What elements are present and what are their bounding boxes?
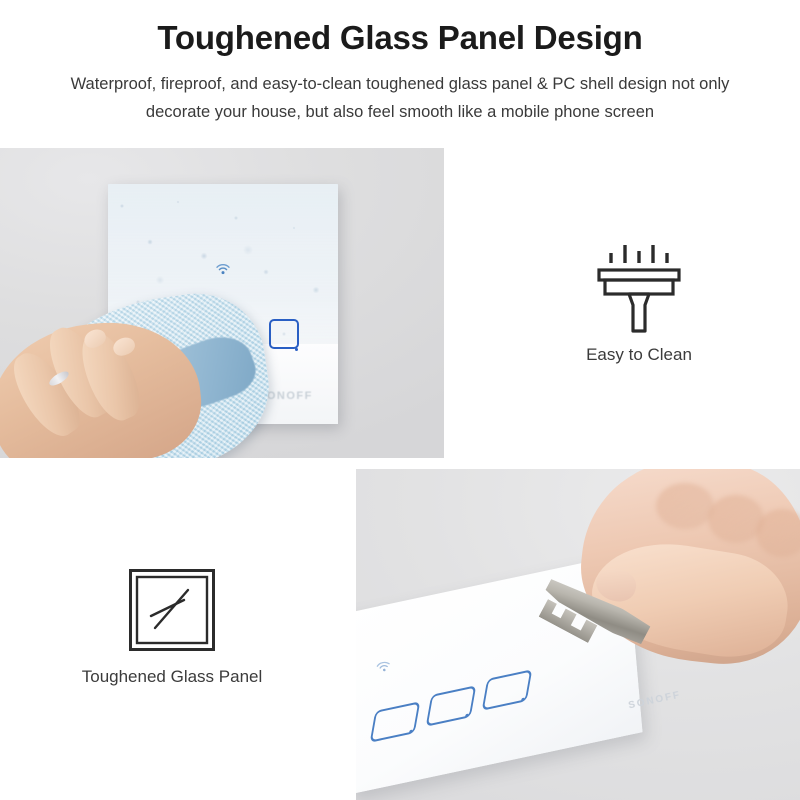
touch-button-led-3 xyxy=(521,698,524,702)
wifi-indicator-icon xyxy=(375,658,391,671)
subtitle-line-2: decorate your house, but also feel smoot… xyxy=(30,98,770,126)
page-subtitle: Waterproof, fireproof, and easy-to-clean… xyxy=(30,70,770,126)
feature-easy-to-clean: Easy to Clean xyxy=(539,240,739,366)
knuckle-3 xyxy=(756,509,800,557)
wifi-indicator-icon xyxy=(216,262,230,273)
product-feature-page: Toughened Glass Panel Design Waterproof,… xyxy=(0,0,800,800)
hand-wiping-wet-switch-photo: SONOFF xyxy=(0,148,444,458)
knuckle-1 xyxy=(656,483,714,529)
glass-pane-icon xyxy=(72,562,272,658)
touch-button-led-2 xyxy=(465,714,468,718)
touch-button-led-3 xyxy=(295,348,298,351)
subtitle-line-1: Waterproof, fireproof, and easy-to-clean… xyxy=(30,70,770,98)
feature-caption: Easy to Clean xyxy=(539,344,739,366)
feature-toughened-glass-panel: Toughened Glass Panel xyxy=(72,562,272,688)
key-scratching-glass-panel-photo: SONOFF xyxy=(356,469,800,800)
feature-caption: Toughened Glass Panel xyxy=(72,666,272,688)
squeegee-icon xyxy=(539,240,739,336)
touch-button-3[interactable] xyxy=(269,319,299,349)
page-title: Toughened Glass Panel Design xyxy=(0,18,800,58)
touch-button-led-1 xyxy=(409,730,412,734)
